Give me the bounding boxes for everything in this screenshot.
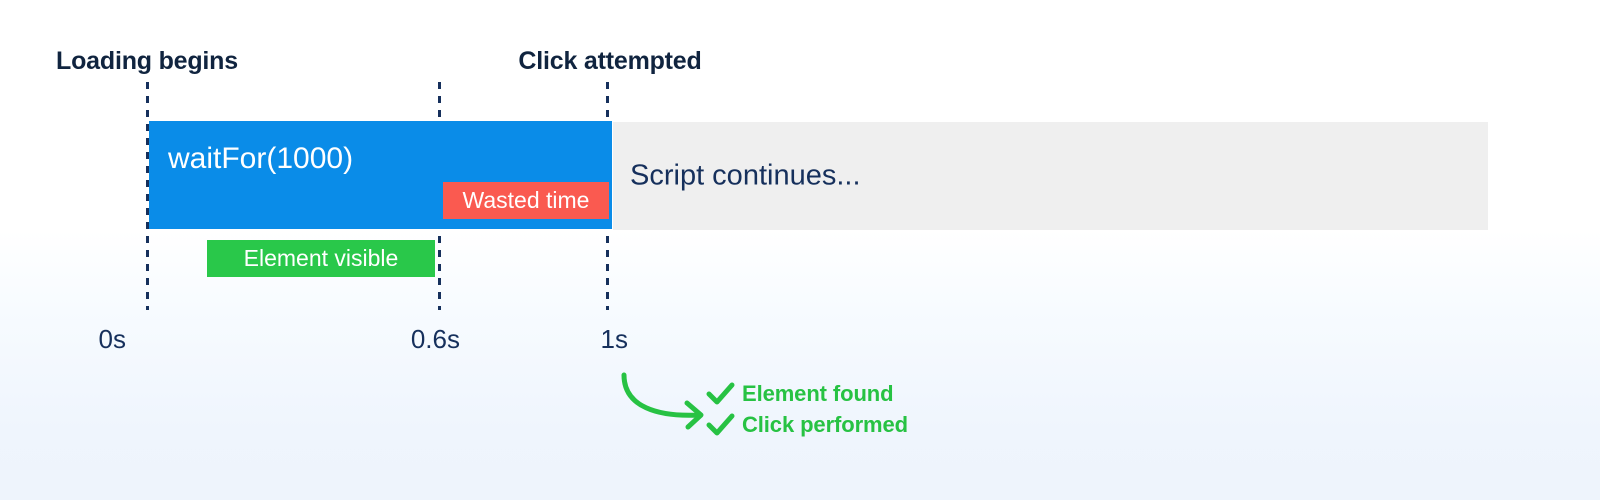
timeline-diagram: Loading begins Click attempted Script co… (0, 0, 1600, 500)
outcome-label-element-found: Element found (742, 381, 893, 407)
axis-tick-label-1s: 1s (601, 324, 628, 355)
check-icon (706, 382, 735, 406)
curved-arrow-right-icon (600, 363, 710, 433)
axis-tick-label-0s: 0s (99, 324, 126, 355)
event-label-loading-begins: Loading begins (56, 47, 238, 76)
outcome-list: Element found Click performed (706, 378, 908, 440)
badge-wasted-time-label: Wasted time (463, 187, 590, 214)
check-icon (706, 413, 735, 437)
badge-element-visible: Element visible (207, 240, 435, 277)
outcome-label-click-performed: Click performed (742, 412, 908, 438)
bar-script-continues: Script continues... (613, 122, 1488, 230)
axis-tick-label-0-6s: 0.6s (411, 324, 460, 355)
badge-wasted-time: Wasted time (443, 182, 609, 219)
bar-wait-for-label: waitFor(1000) (168, 142, 353, 176)
badge-element-visible-label: Element visible (244, 245, 399, 272)
bar-script-continues-label: Script continues... (630, 160, 861, 193)
outcome-row-click-performed: Click performed (706, 409, 908, 440)
outcome-row-element-found: Element found (706, 378, 908, 409)
event-label-click-attempted: Click attempted (518, 47, 701, 76)
